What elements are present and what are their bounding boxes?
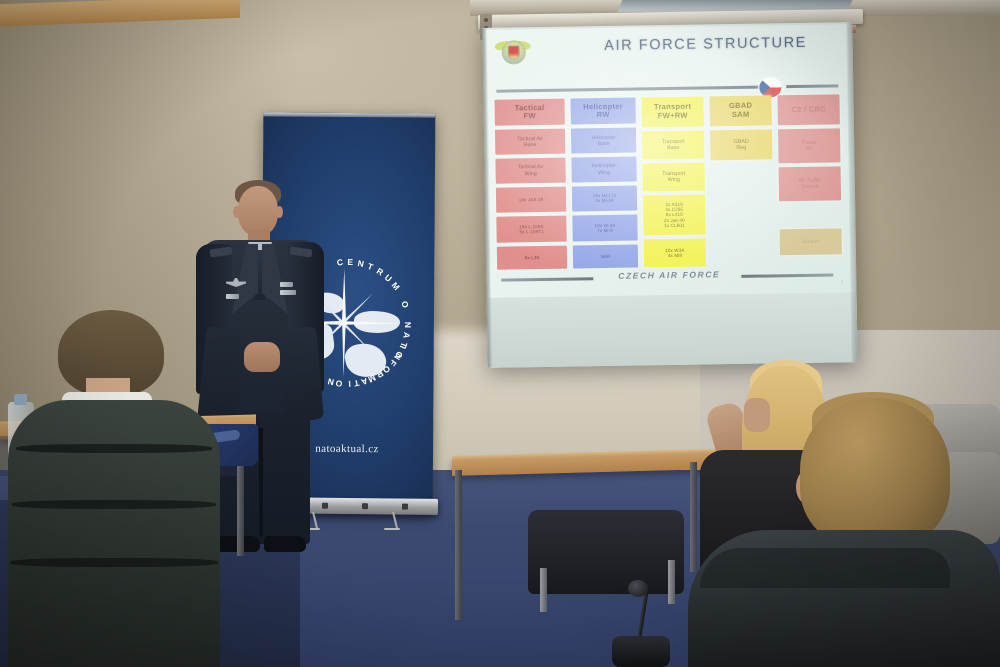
footer-rule-right xyxy=(741,273,833,277)
presentation-slide: AIR FORCE STRUCTURE Tactical FW Tactical… xyxy=(485,24,851,298)
student-right-hair xyxy=(800,398,950,548)
cell-transport-fixedwing: 2x A319 4x C295 8x L410 2x Jak-40 1x CL6… xyxy=(643,194,706,235)
column-gbad: GBAD SAM GBAD Reg xyxy=(709,95,774,266)
cell-tactical-l159: 19x L-159A 5x L-159T1 xyxy=(496,215,566,243)
cell-tactical-base: Tactical Air Base xyxy=(495,129,565,155)
student-blonde-hand xyxy=(744,398,770,432)
column-other: C2 / CRC Radar Bn Air Traffic Control Su… xyxy=(777,94,842,265)
cell-other-atc: Air Traffic Control xyxy=(779,166,842,201)
projector-screen: AIR FORCE STRUCTURE Tactical FW Tactical… xyxy=(482,22,857,368)
cell-tactical-jas39: 14x JAS-39 xyxy=(496,187,566,213)
presenter-nameplate xyxy=(226,294,239,299)
chair-post-left xyxy=(540,568,547,612)
banner-top-edge xyxy=(263,112,435,117)
cell-tactical-wing: Tactical Air Wing xyxy=(495,158,565,184)
cell-tactical-l39: 6x L39 xyxy=(497,246,567,270)
cell-transport-rotary: 10x W3A 4x Mi8 xyxy=(644,238,706,267)
presenter-ear-right xyxy=(276,206,283,218)
structure-columns: Tactical FW Tactical Air Base Tactical A… xyxy=(494,94,845,269)
slide-footer: CZECH AIR FORCE xyxy=(489,264,851,290)
cell-heli-w3a: 10x W-3A 7x Mi-8 xyxy=(572,214,637,241)
student-right-hood xyxy=(700,548,950,588)
presenter-hands xyxy=(244,342,280,372)
slide-page-number: 1 xyxy=(841,279,844,285)
presenter-arm-right xyxy=(278,327,324,422)
banner-ring-char: O xyxy=(335,378,342,388)
table-microphone-base xyxy=(612,636,670,667)
presenter-ear-left xyxy=(233,206,240,218)
column-header-other: C2 / CRC xyxy=(777,94,839,125)
cell-heli-base: Helicopter Base xyxy=(571,128,636,154)
cell-heli-mi171: 16x Mi-171 4x Mi-24 xyxy=(572,185,637,211)
slide-rule-left xyxy=(496,86,758,93)
presenter-shoe-right xyxy=(264,536,306,552)
column-helicopter: Helicopter RW Helicopter Base Helicopter… xyxy=(570,98,638,269)
chair-post-right xyxy=(668,560,675,604)
student-left-sweater xyxy=(8,400,220,667)
cell-transport-wing: Transport Wing xyxy=(643,162,705,191)
column-header-helicopter: Helicopter RW xyxy=(570,98,635,125)
presenter-ribbon-bar xyxy=(280,282,293,287)
water-bottle-cap xyxy=(14,394,27,405)
table-microphone-head xyxy=(628,580,648,597)
banner-foot-right-bar xyxy=(384,528,400,530)
classroom-scene: AIR FORCE STRUCTURE Tactical FW Tactical… xyxy=(0,0,1000,667)
presenter-leg-gap xyxy=(259,428,263,536)
banner-ring-char: T xyxy=(353,378,360,389)
desk-middle-leg-left xyxy=(455,470,462,620)
cell-other-radar: Radar Bn xyxy=(778,128,841,163)
column-tactical: Tactical FW Tactical Air Base Tactical A… xyxy=(494,99,567,270)
cell-other-support: Support xyxy=(780,228,842,255)
slide-footer-text: CZECH AIR FORCE xyxy=(599,269,739,281)
banner-ring-char: I xyxy=(348,379,351,389)
column-header-gbad: GBAD SAM xyxy=(709,95,771,126)
desk-middle-leg-right xyxy=(690,462,697,572)
column-transport: Transport FW+RW Transport Base Transport… xyxy=(641,96,706,267)
banner-ring-char: N xyxy=(327,376,335,387)
column-header-tactical: Tactical FW xyxy=(494,99,564,127)
footer-rule-left xyxy=(501,277,593,281)
screen-lower-blank xyxy=(487,292,858,368)
banner-ring-char: I xyxy=(398,344,408,350)
presenter-head xyxy=(238,186,278,236)
czech-air-force-crest-icon xyxy=(495,35,529,68)
column-header-transport: Transport FW+RW xyxy=(641,96,703,127)
slide-title: AIR FORCE STRUCTURE xyxy=(581,34,831,54)
cell-gbad-reg: GBAD Reg xyxy=(710,129,772,160)
cell-heli-wing: Helicopter Wing xyxy=(571,157,636,183)
classroom-chair xyxy=(528,510,684,594)
cell-heli-sar: SAR xyxy=(573,245,638,269)
presenter-ribbon-bar-2 xyxy=(280,290,296,295)
cell-transport-base: Transport Base xyxy=(642,130,704,159)
slide-rule-right xyxy=(786,84,838,88)
